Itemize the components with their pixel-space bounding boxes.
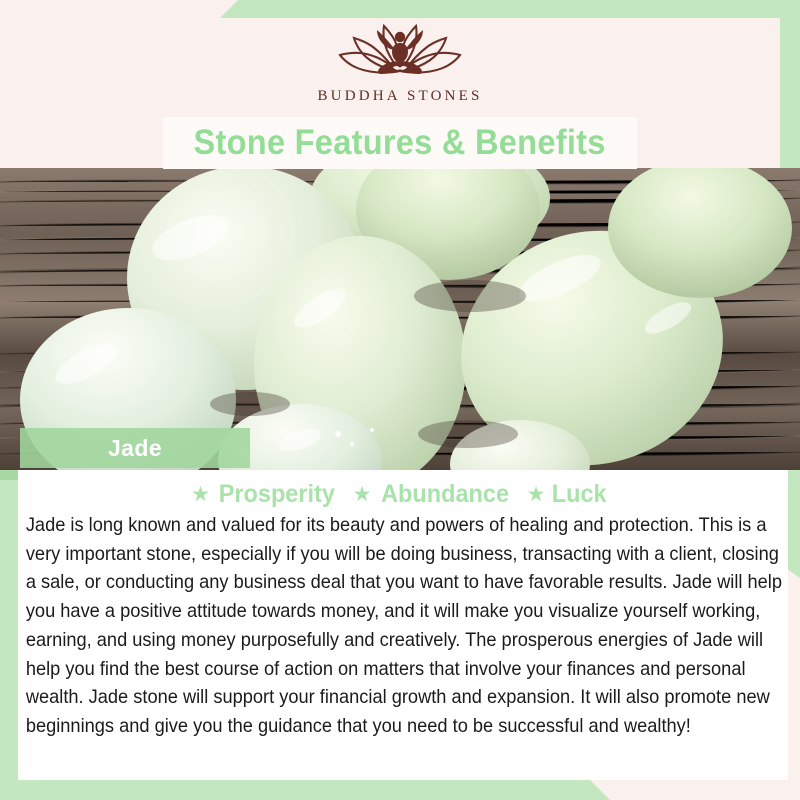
lotus-meditation-icon [326,22,474,84]
stone-name-band: Jade [20,428,250,468]
infographic-canvas: BUDDHA STONES Stone Features & Benefits [0,0,800,800]
description-panel: ★ Prosperity ★ Abundance ★ Luck Jade is … [18,470,788,780]
section-title-panel: Stone Features & Benefits [163,117,637,169]
brand-name: BUDDHA STONES [317,88,482,105]
benefit-luck: ★ Luck [527,480,609,509]
benefit-label: Abundance [381,480,509,509]
star-icon: ★ [191,484,210,505]
stone-name: Jade [108,435,162,462]
benefit-label: Prosperity [219,480,335,509]
benefits-row: ★ Prosperity ★ Abundance ★ Luck [22,478,778,510]
page-title: Stone Features & Benefits [194,123,606,163]
brand-header: BUDDHA STONES [0,0,800,120]
stone-description-text: Jade is long known and valued for its be… [22,512,786,742]
benefit-prosperity: ★ Prosperity [191,480,339,509]
benefit-abundance: ★ Abundance [353,480,513,509]
benefit-label: Luck [552,480,607,509]
star-icon: ★ [527,484,546,505]
star-icon: ★ [353,484,372,505]
hero-stone-photo [0,168,800,470]
